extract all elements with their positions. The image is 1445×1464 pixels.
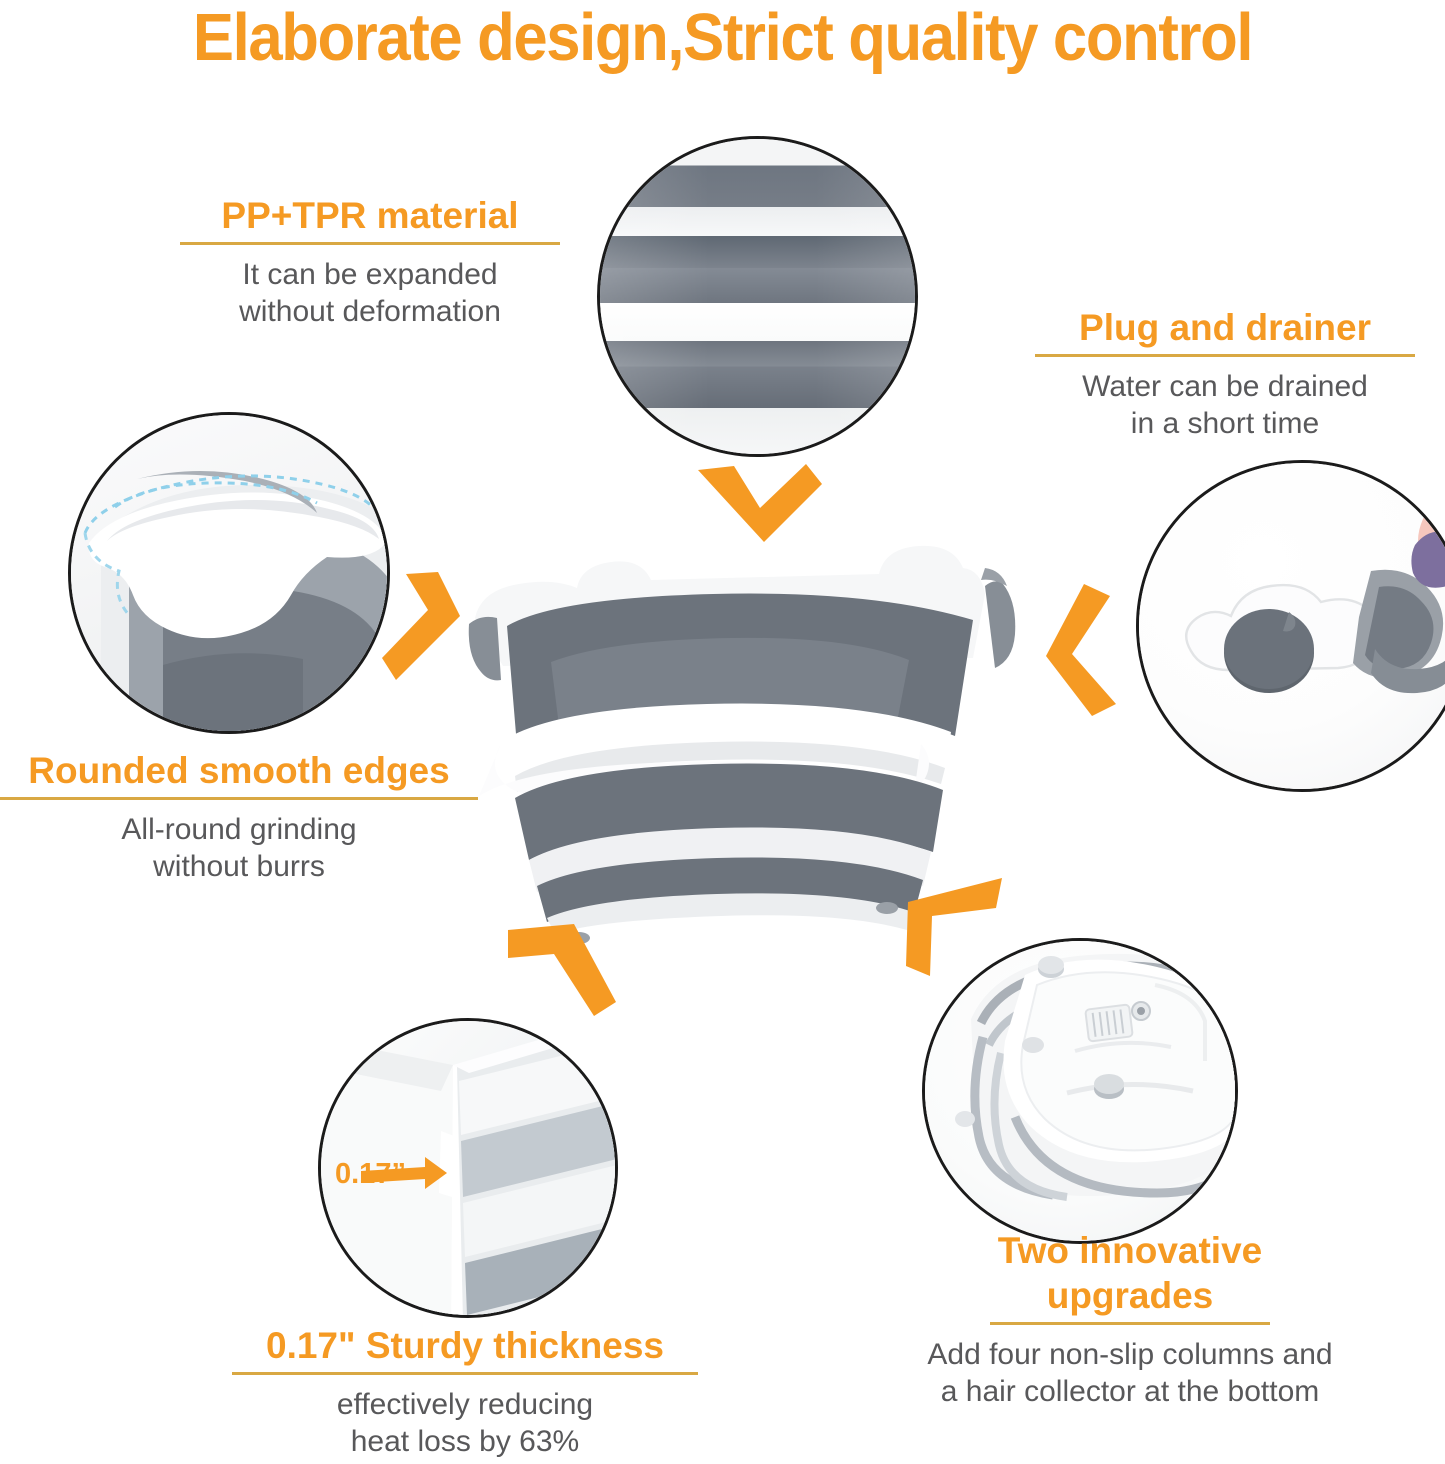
- non-slip-column-2-top: [1094, 1074, 1124, 1094]
- feature-drainer-subtitle-line1: Water can be drained: [1035, 368, 1415, 405]
- feature-material-rule: [180, 242, 560, 245]
- feature-edges: Rounded smooth edges All-round grinding …: [0, 748, 478, 885]
- arrow-from-edges-icon: [382, 572, 492, 704]
- feature-material-subtitle-line1: It can be expanded: [180, 256, 560, 293]
- feature-drainer-subtitle-line2: in a short time: [1035, 405, 1415, 442]
- arrow-to-product-top-icon: [694, 462, 826, 546]
- feature-material-heading: PP+TPR material: [180, 193, 560, 238]
- feature-thickness-heading: 0.17" Sturdy thickness: [232, 1323, 698, 1368]
- feature-upgrades-heading-line1: Two innovative: [896, 1228, 1364, 1273]
- feature-material-subtitle-line2: without deformation: [180, 293, 560, 330]
- basin-grey-deep: [163, 653, 303, 734]
- basin-underside-illustration: [925, 941, 1238, 1244]
- page-title: Elaborate design,Strict quality control: [58, 2, 1387, 74]
- feature-drainer: Plug and drainer Water can be drained in…: [1035, 305, 1415, 442]
- photo-plug-drainer: [1136, 460, 1445, 792]
- drain-hole-inner: [1224, 609, 1314, 689]
- feature-drainer-heading: Plug and drainer: [1035, 305, 1415, 350]
- photo-wall-thickness: 0.17”: [318, 1018, 618, 1318]
- feature-upgrades-rule: [990, 1322, 1270, 1325]
- feature-drainer-rule: [1035, 354, 1415, 357]
- striped-material-image: [598, 137, 917, 456]
- feature-thickness: 0.17" Sturdy thickness effectively reduc…: [232, 1323, 698, 1460]
- non-slip-column-4: [955, 1111, 975, 1127]
- drain-port-center: [1137, 1007, 1145, 1015]
- plug-drainer-illustration: [1139, 463, 1445, 792]
- arrow-from-drainer-icon: [1042, 582, 1138, 718]
- photo-striped-material: [597, 136, 918, 457]
- feature-material: PP+TPR material It can be expanded witho…: [180, 193, 560, 330]
- arrow-from-thickness-icon: [478, 902, 642, 1020]
- photo-basin-underside: [922, 938, 1238, 1244]
- feature-edges-rule: [0, 797, 478, 800]
- feature-upgrades: Two innovative upgrades Add four non-sli…: [896, 1228, 1364, 1410]
- feature-edges-subtitle-line2: without burrs: [0, 848, 478, 885]
- feature-upgrades-subtitle-line1: Add four non-slip columns and: [896, 1336, 1364, 1373]
- feature-thickness-subtitle-line1: effectively reducing: [232, 1386, 698, 1423]
- feature-upgrades-subtitle-line2: a hair collector at the bottom: [896, 1373, 1364, 1410]
- underside-plate-inset: [1021, 972, 1237, 1150]
- feature-thickness-rule: [232, 1372, 698, 1375]
- feature-thickness-subtitle-line2: heat loss by 63%: [232, 1423, 698, 1460]
- infographic-canvas: Elaborate design,Strict quality control …: [0, 0, 1445, 1464]
- rounded-edges-illustration: [71, 415, 390, 734]
- feature-upgrades-heading-line2: upgrades: [896, 1273, 1364, 1318]
- feature-edges-subtitle-line1: All-round grinding: [0, 811, 478, 848]
- non-slip-column-1-top: [1038, 956, 1064, 974]
- thickness-callout-label: 0.17”: [335, 1159, 406, 1189]
- photo-rounded-edges: [68, 412, 390, 734]
- handle-grip-right: [985, 581, 1015, 668]
- feature-edges-heading: Rounded smooth edges: [0, 748, 478, 793]
- non-slip-column-3: [1022, 1037, 1044, 1053]
- gloss-overlay: [598, 137, 917, 456]
